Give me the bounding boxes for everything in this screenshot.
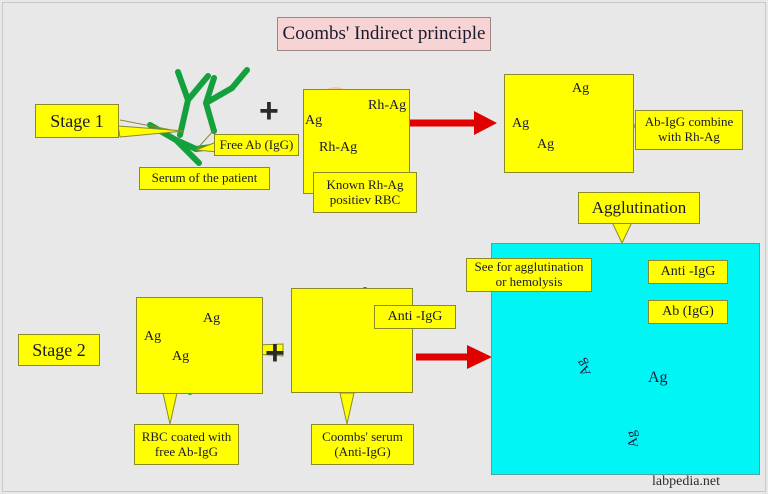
stage2-label: Stage 2 (18, 334, 100, 366)
stage2-plus-sign: + (265, 336, 285, 370)
agglutination-ag-label-2: Ag (625, 429, 642, 448)
stage1-label: Stage 1 (35, 104, 119, 138)
page-title: Coombs' Indirect principle (277, 17, 491, 51)
ab-igg-combine-line2: with Rh-Ag (658, 130, 720, 145)
watermark: labpedia.net (652, 474, 720, 490)
diagram-canvas: Coombs' Indirect principle (0, 0, 768, 494)
known-rbc-ag-left: Ag (305, 114, 322, 128)
agglutination-ag-label-1: Ag (648, 370, 668, 386)
see-for-line2: or hemolysis (496, 275, 563, 290)
see-for-agglutination-label: See for agglutination or hemolysis (466, 258, 592, 292)
coombs-serum-caption: Coombs' serum (Anti-IgG) (311, 424, 414, 465)
agglutination-callout: Agglutination (578, 192, 700, 224)
coated-rbc-caption-line2: free Ab-IgG (155, 445, 218, 460)
ab-igg-combine-line1: Ab-IgG combine (645, 115, 733, 130)
coated-rbc-panel (136, 297, 263, 394)
known-rbc-rh-ag-right: Rh-Ag (368, 99, 406, 113)
result-ag-label-2: Ag (512, 117, 529, 131)
known-rbc-caption-line1: Known Rh-Ag (327, 178, 404, 193)
coombs-serum-panel (291, 288, 413, 393)
coombs-serum-caption-line2: (Anti-IgG) (334, 445, 390, 460)
see-for-line1: See for agglutination (474, 260, 583, 275)
stage1-arrow (408, 111, 497, 135)
serum-anti-igg-label: Anti -IgG (374, 305, 456, 329)
stage1-plus-sign: + (259, 94, 279, 128)
free-ab-label: Free Ab (IgG) (214, 134, 299, 156)
coated-rbc-caption: RBC coated with free Ab-IgG (134, 424, 239, 465)
coated-ag-label-1: Ag (203, 312, 220, 326)
ab-igg-combine-caption: Ab-IgG combine with Rh-Ag (635, 110, 743, 150)
coated-ag-label-2: Ag (144, 330, 161, 344)
stage2-arrow (416, 345, 492, 369)
coated-rbc-caption-line1: RBC coated with (142, 430, 232, 445)
result-ag-label-3: Ag (537, 138, 554, 152)
known-rbc-caption: Known Rh-Ag positiev RBC (313, 172, 417, 213)
result-ab-igg-label: Ab (IgG) (648, 300, 728, 324)
result-anti-igg-label: Anti -IgG (648, 260, 728, 284)
serum-of-patient-label: Serum of the patient (139, 167, 270, 190)
coated-ag-label-3: Ag (172, 350, 189, 364)
coombs-serum-caption-line1: Coombs' serum (322, 430, 403, 445)
result-ag-label-1: Ag (572, 82, 589, 96)
known-rbc-caption-line2: positiev RBC (330, 193, 400, 208)
known-rbc-rh-ag-bottom: Rh-Ag (319, 141, 357, 155)
